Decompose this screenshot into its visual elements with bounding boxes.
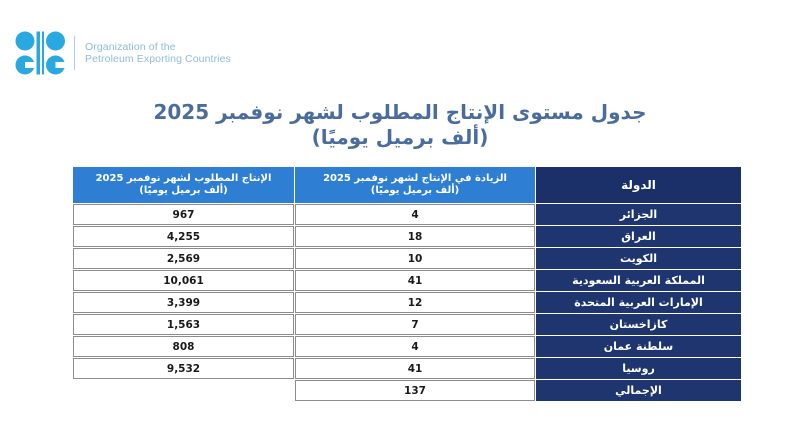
cell-increase: 41 (295, 270, 535, 291)
production-table: الدولة الزيادة في الإنتاج لشهر نوفمبر 20… (72, 166, 742, 402)
cell-country: سلطنة عمان (536, 336, 741, 357)
cell-increase: 12 (295, 292, 535, 313)
opec-logo-mark (14, 30, 66, 76)
column-header-increase-line-2: (ألف برميل يوميًا) (371, 185, 459, 196)
table-row: سلطنة عمان4808 (73, 336, 741, 357)
table-row: العراق184,255 (73, 226, 741, 247)
cell-increase: 18 (295, 226, 535, 247)
table-header: الدولة الزيادة في الإنتاج لشهر نوفمبر 20… (73, 167, 741, 203)
opec-logo: Organization of the Petroleum Exporting … (14, 30, 231, 76)
cell-increase: 41 (295, 358, 535, 379)
cell-increase: 137 (295, 380, 535, 401)
table-row: المملكة العربية السعودية4110,061 (73, 270, 741, 291)
opec-wordmark: Organization of the Petroleum Exporting … (85, 41, 231, 66)
cell-country: المملكة العربية السعودية (536, 270, 741, 291)
page-title-line-1: جدول مستوى الإنتاج المطلوب لشهر نوفمبر 2… (153, 100, 646, 124)
cell-country: الإمارات العربية المتحدة (536, 292, 741, 313)
column-header-increase-line-1: الزيادة في الإنتاج لشهر نوفمبر 2025 (323, 173, 507, 184)
cell-required: 1,563 (73, 314, 294, 335)
cell-required: 9,532 (73, 358, 294, 379)
cell-country: العراق (536, 226, 741, 247)
cell-increase: 10 (295, 248, 535, 269)
cell-country: روسيا (536, 358, 741, 379)
table-row: كازاخستان71,563 (73, 314, 741, 335)
cell-required: 4,255 (73, 226, 294, 247)
page-title: جدول مستوى الإنتاج المطلوب لشهر نوفمبر 2… (0, 100, 800, 150)
cell-required (73, 380, 294, 401)
cell-country: الجزائر (536, 204, 741, 225)
cell-required: 3,399 (73, 292, 294, 313)
cell-increase: 7 (295, 314, 535, 335)
cell-increase: 4 (295, 204, 535, 225)
cell-country: كازاخستان (536, 314, 741, 335)
table-row: الإجمالي137 (73, 380, 741, 401)
total-row-label: الإجمالي (536, 380, 741, 401)
cell-country: الكويت (536, 248, 741, 269)
cell-required: 808 (73, 336, 294, 357)
cell-required: 10,061 (73, 270, 294, 291)
page-title-line-2: (ألف برميل يوميًا) (0, 125, 800, 150)
wordmark-line-1: Organization of the (85, 41, 231, 54)
column-header-country: الدولة (536, 167, 741, 203)
column-header-required-line-1: الإنتاج المطلوب لشهر نوفمبر 2025 (96, 173, 272, 184)
column-header-required-line-2: (ألف برميل يوميًا) (139, 185, 227, 196)
table-row: الجزائر4967 (73, 204, 741, 225)
table-row: الكويت102,569 (73, 248, 741, 269)
table-header-row: الدولة الزيادة في الإنتاج لشهر نوفمبر 20… (73, 167, 741, 203)
cell-increase: 4 (295, 336, 535, 357)
column-header-increase: الزيادة في الإنتاج لشهر نوفمبر 2025 (ألف… (295, 167, 535, 203)
table-row: روسيا419,532 (73, 358, 741, 379)
table-row: الإمارات العربية المتحدة123,399 (73, 292, 741, 313)
wordmark-line-2: Petroleum Exporting Countries (85, 53, 231, 66)
cell-required: 967 (73, 204, 294, 225)
cell-required: 2,569 (73, 248, 294, 269)
logo-divider (74, 36, 75, 70)
column-header-required: الإنتاج المطلوب لشهر نوفمبر 2025 (ألف بر… (73, 167, 294, 203)
table-body: الجزائر4967العراق184,255الكويت102,569الم… (73, 204, 741, 401)
